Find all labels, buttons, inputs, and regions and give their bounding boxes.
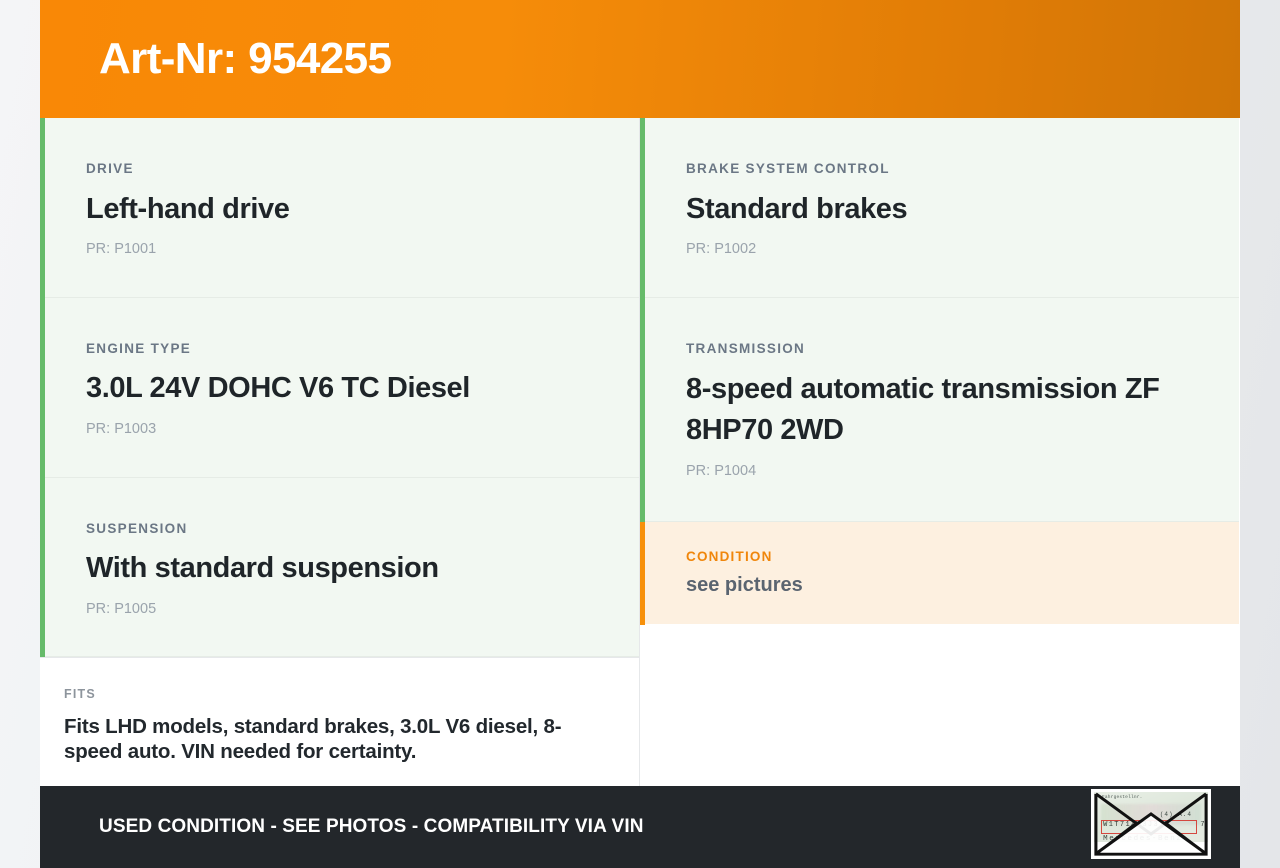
spec-pr-code: PR: P1004: [686, 464, 1195, 479]
product-spec-page: Art-Nr: 954255 DRIVE Left-hand drive PR:…: [0, 0, 1280, 868]
condition-card: CONDITION see pictures: [640, 522, 1239, 624]
fits-section: FITS Fits LHD models, standard brakes, 3…: [40, 657, 639, 790]
envelope-icon: [1094, 792, 1208, 856]
spec-pr-code: PR: P1003: [86, 422, 595, 437]
spec-label: ENGINE TYPE: [86, 342, 595, 356]
spec-value: Left-hand drive: [86, 189, 595, 231]
footer-notice: USED CONDITION - SEE PHOTOS - COMPATIBIL…: [40, 816, 644, 838]
spec-pr-code: PR: P1005: [86, 602, 595, 617]
right-column-filler: [640, 624, 1239, 786]
spec-label: BRAKE SYSTEM CONTROL: [686, 162, 1195, 176]
spec-card-engine-type: ENGINE TYPE 3.0L 24V DOHC V6 TC Diesel P…: [40, 298, 639, 478]
fits-text: Fits LHD models, standard brakes, 3.0L V…: [64, 714, 584, 764]
spec-value: Standard brakes: [686, 189, 1195, 231]
spec-value: 8-speed automatic transmission ZF 8HP70 …: [686, 369, 1195, 453]
spec-card-transmission: TRANSMISSION 8-speed automatic transmiss…: [640, 298, 1239, 522]
page-header: Art-Nr: 954255: [40, 0, 1240, 118]
spec-label: DRIVE: [86, 162, 595, 176]
spec-card-brake-system-control: BRAKE SYSTEM CONTROL Standard brakes PR:…: [640, 118, 1239, 298]
spec-pr-code: PR: P1001: [86, 242, 595, 257]
spec-value: 3.0L 24V DOHC V6 TC Diesel: [86, 368, 595, 410]
spec-column-left: DRIVE Left-hand drive PR: P1001 ENGINE T…: [40, 118, 640, 786]
page-title: Art-Nr: 954255: [40, 37, 391, 81]
spec-value: With standard suspension: [86, 548, 595, 590]
spec-column-right: BRAKE SYSTEM CONTROL Standard brakes PR:…: [640, 118, 1239, 786]
spec-card-suspension: SUSPENSION With standard suspension PR: …: [40, 478, 639, 658]
fits-label: FITS: [64, 688, 593, 701]
vin-document-thumbnail[interactable]: Fahrgestellnr. (4) A.4 W1T71463J31 7 Mer…: [1091, 789, 1211, 859]
condition-value: see pictures: [686, 573, 1195, 597]
condition-label: CONDITION: [686, 550, 1195, 564]
registration-document-image: Fahrgestellnr. (4) A.4 W1T71463J31 7 Mer…: [1094, 792, 1208, 856]
page-footer: USED CONDITION - SEE PHOTOS - COMPATIBIL…: [40, 786, 1240, 868]
spec-label: TRANSMISSION: [686, 342, 1195, 356]
spec-pr-code: PR: P1002: [686, 242, 1195, 257]
spec-card-drive: DRIVE Left-hand drive PR: P1001: [40, 118, 639, 298]
spec-body: DRIVE Left-hand drive PR: P1001 ENGINE T…: [40, 118, 1240, 786]
spec-label: SUSPENSION: [86, 522, 595, 536]
spec-sheet: Art-Nr: 954255 DRIVE Left-hand drive PR:…: [40, 0, 1240, 868]
